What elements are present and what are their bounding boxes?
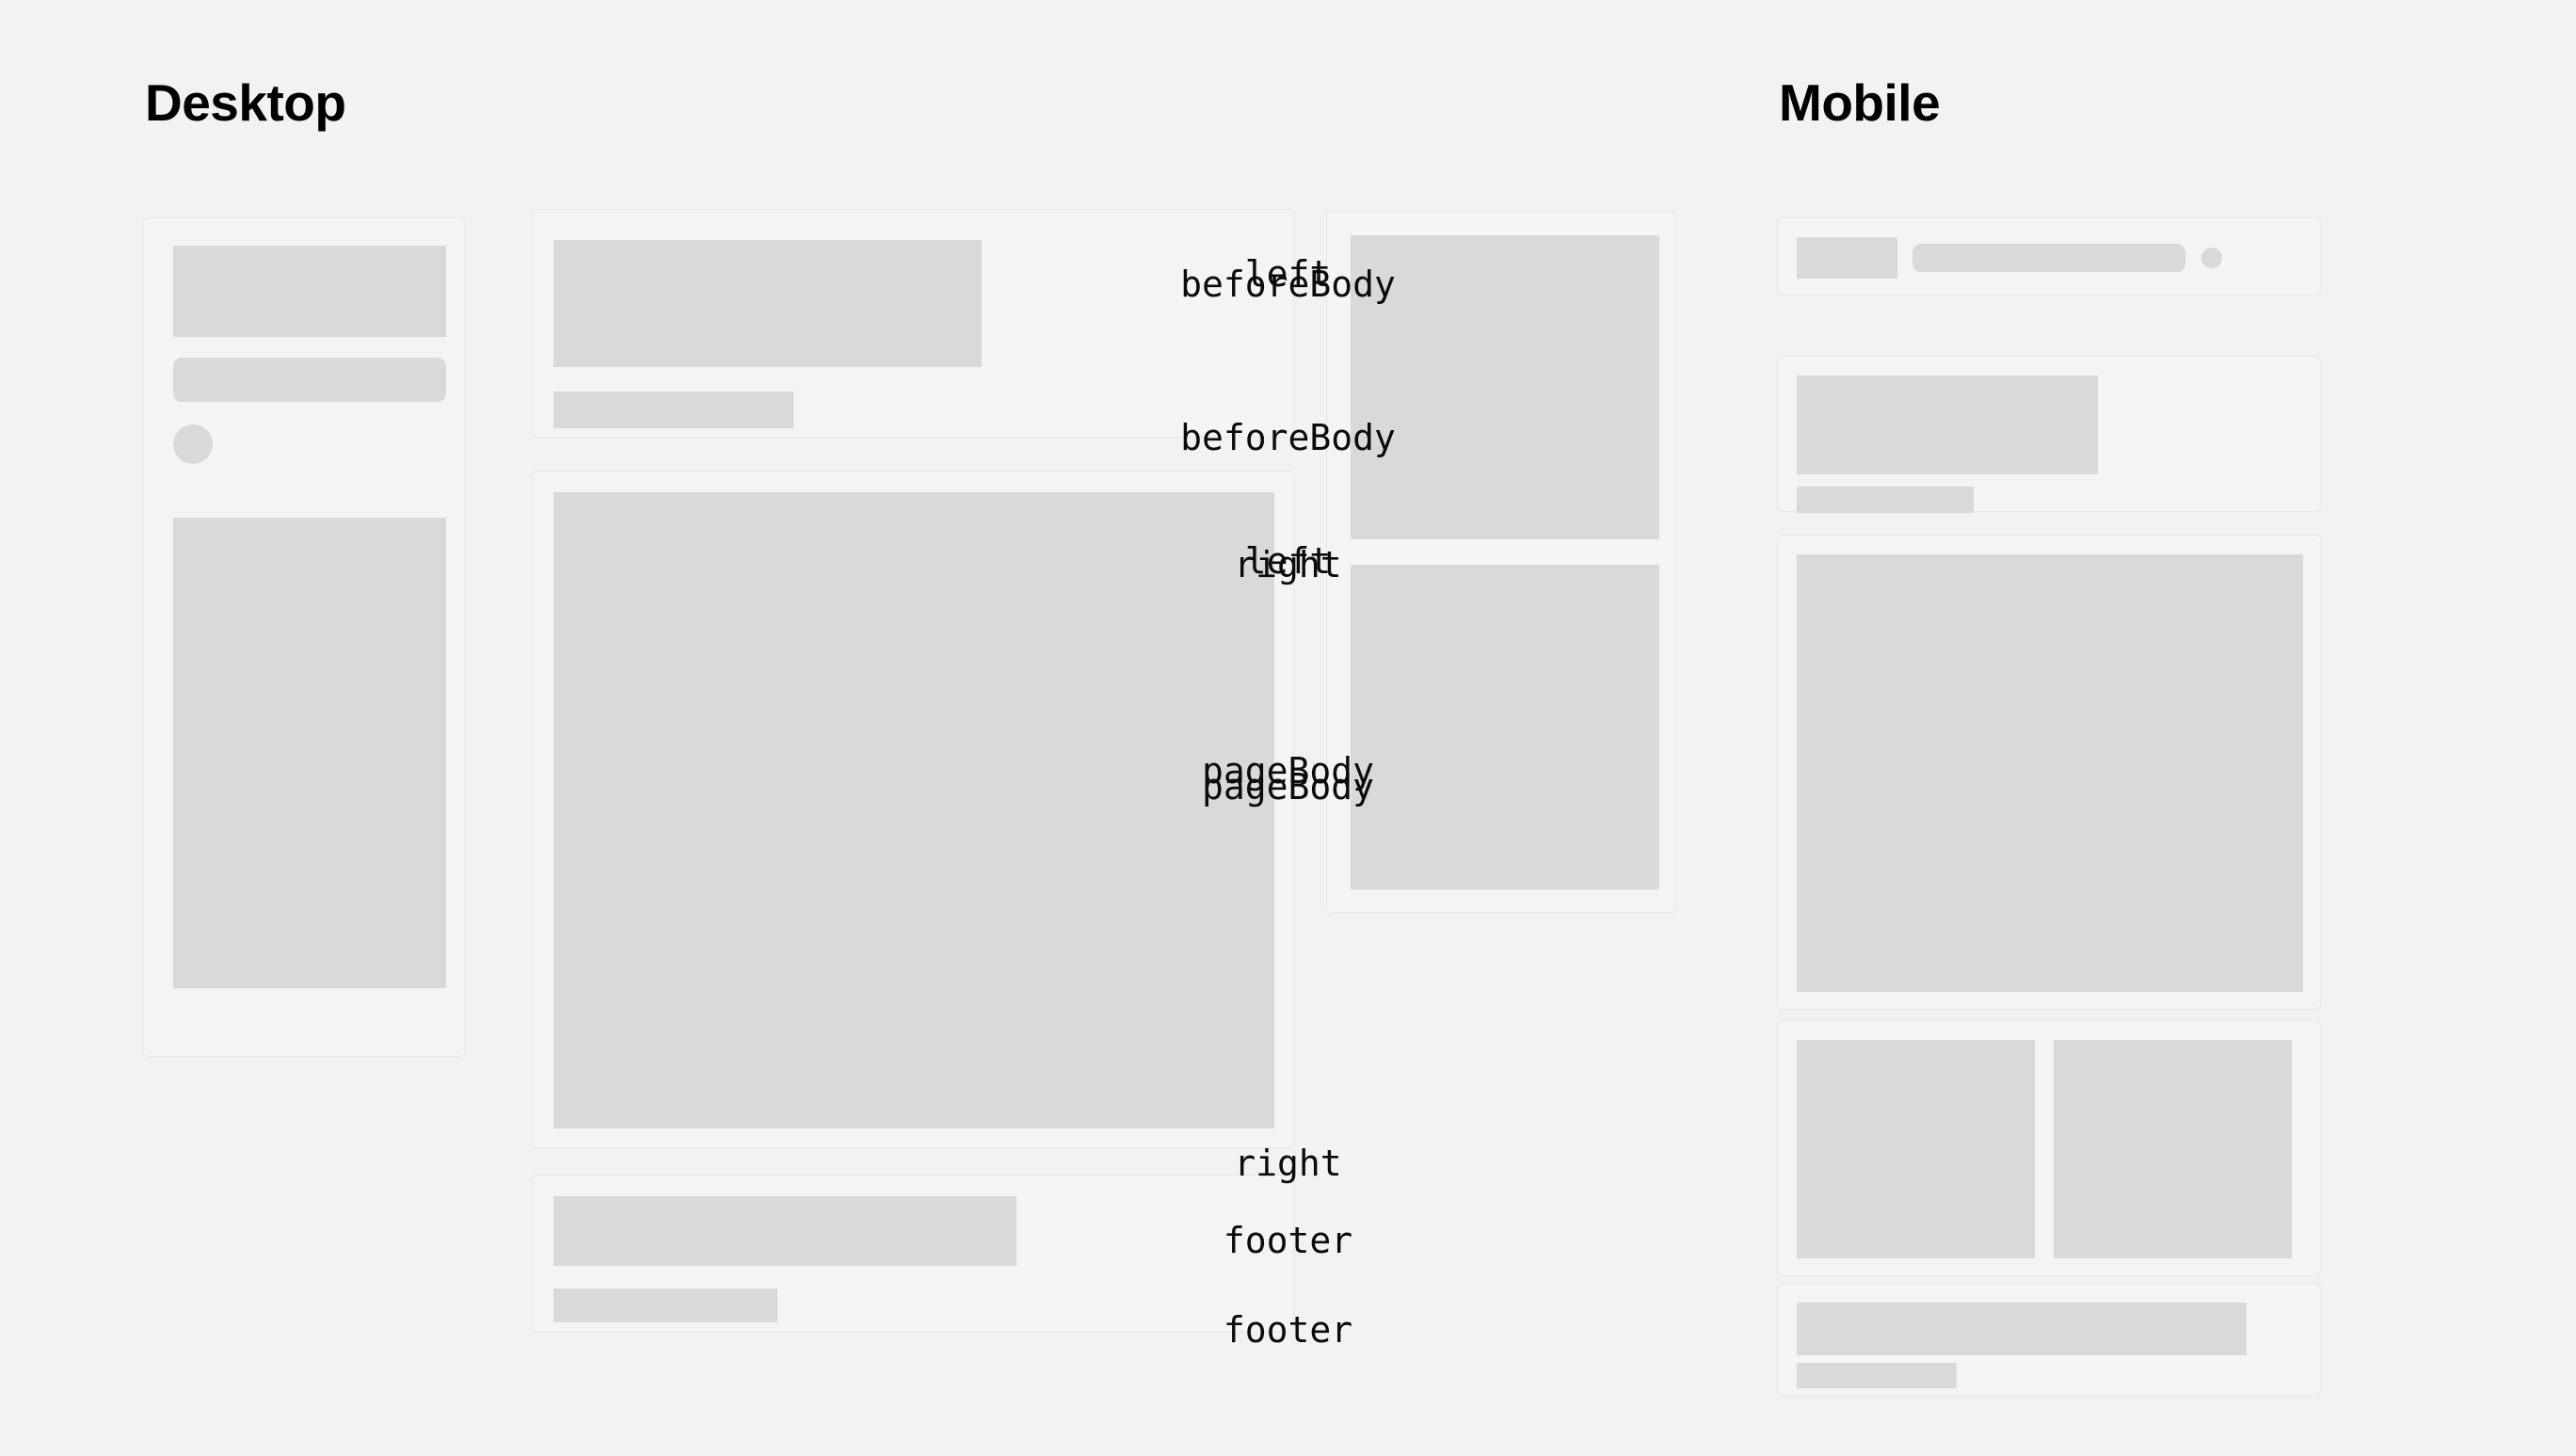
mobile-beforebody-block-hero	[1797, 376, 2098, 474]
mobile-right-block-left	[1797, 1040, 2035, 1258]
mobile-left-block-bar	[1912, 244, 2185, 272]
mobile-pagebody-block	[1797, 554, 2303, 992]
column-title-mobile: Mobile	[1779, 77, 1940, 129]
mobile-footer-panel[interactable]	[1777, 1283, 2321, 1396]
mobile-pagebody-panel[interactable]	[1777, 535, 2321, 1010]
desktop-footer-panel[interactable]	[532, 1175, 1294, 1333]
mobile-footer-block-hero	[1797, 1303, 2247, 1355]
desktop-left-block-bar	[173, 358, 446, 402]
mobile-footer-block-bar	[1797, 1363, 1957, 1388]
desktop-footer-block-hero	[553, 1196, 1016, 1266]
desktop-left-block-hero	[173, 246, 446, 337]
desktop-pagebody-block	[553, 492, 1274, 1128]
desktop-left-block-tall	[173, 518, 446, 988]
mobile-left-panel[interactable]	[1777, 217, 2321, 296]
desktop-left-panel[interactable]	[143, 217, 465, 1057]
mobile-beforebody-panel[interactable]	[1777, 356, 2321, 512]
mobile-left-block-hero	[1797, 237, 1897, 279]
desktop-beforebody-panel[interactable]	[532, 209, 1294, 438]
desktop-left-avatar-circle	[173, 424, 213, 464]
column-title-desktop: Desktop	[145, 77, 346, 129]
desktop-beforebody-block-hero	[553, 240, 982, 367]
layout-preview-stage: Desktop Mobile	[0, 0, 2576, 1456]
desktop-right-block-top	[1351, 235, 1659, 539]
desktop-pagebody-panel[interactable]	[532, 471, 1294, 1148]
mobile-right-panel[interactable]	[1777, 1020, 2321, 1276]
mobile-left-avatar-circle	[2201, 248, 2222, 268]
mobile-beforebody-block-bar	[1797, 487, 1974, 513]
desktop-right-block-bottom	[1351, 565, 1659, 889]
mobile-right-block-right	[2054, 1040, 2292, 1258]
desktop-right-panel[interactable]	[1326, 211, 1676, 913]
desktop-beforebody-block-bar	[553, 392, 793, 428]
desktop-footer-block-bar	[553, 1288, 777, 1322]
